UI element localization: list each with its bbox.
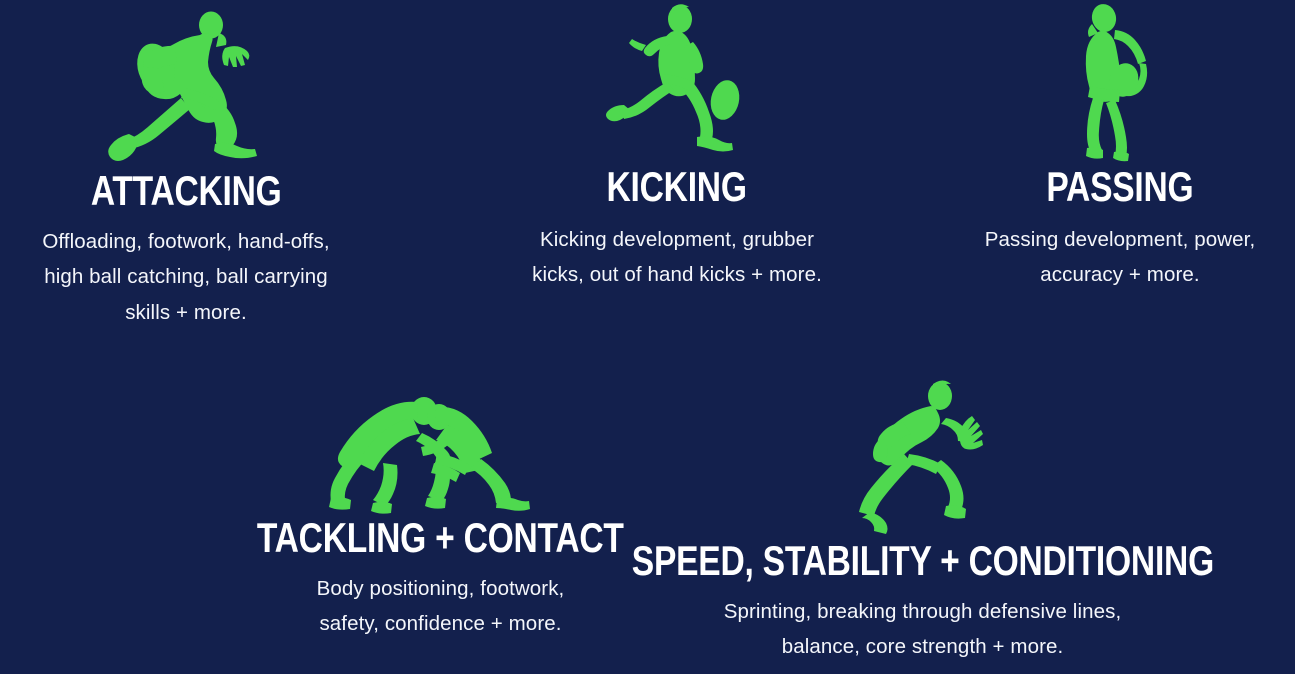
card-description: Offloading, footwork, hand-offs, high ba… — [0, 224, 376, 330]
card-title: ATTACKING — [91, 170, 282, 212]
skill-card-speed[interactable]: SPEED, STABILITY + CONDITIONING Sprintin… — [655, 378, 1190, 665]
card-description: Body positioning, footwork, safety, conf… — [268, 571, 613, 642]
skill-card-kicking[interactable]: KICKING Kicking development, grubber kic… — [452, 2, 902, 293]
rugby-player-running-with-ball-icon — [101, 6, 271, 164]
card-title: SPEED, STABILITY + CONDITIONING — [631, 540, 1213, 582]
card-title: TACKLING + CONTACT — [257, 517, 624, 559]
card-description: Kicking development, grubber kicks, out … — [467, 222, 887, 293]
skill-card-attacking[interactable]: ATTACKING Offloading, footwork, hand-off… — [0, 6, 380, 330]
skill-card-passing[interactable]: PASSING Passing development, power, accu… — [930, 2, 1295, 293]
card-title: PASSING — [1046, 166, 1193, 208]
card-description: Passing development, power, accuracy + m… — [931, 222, 1295, 293]
skill-card-tackling[interactable]: TACKLING + CONTACT Body positioning, foo… — [253, 385, 628, 642]
rugby-player-kicking-ball-icon — [605, 2, 750, 162]
poster-background: ATTACKING Offloading, footwork, hand-off… — [0, 0, 1295, 674]
rugby-players-tackling-icon — [321, 385, 561, 515]
rugby-player-sprinting-icon — [847, 378, 999, 538]
rugby-player-passing-ball-icon — [1068, 2, 1173, 162]
card-title: KICKING — [607, 166, 747, 208]
card-description: Sprinting, breaking through defensive li… — [660, 594, 1185, 665]
